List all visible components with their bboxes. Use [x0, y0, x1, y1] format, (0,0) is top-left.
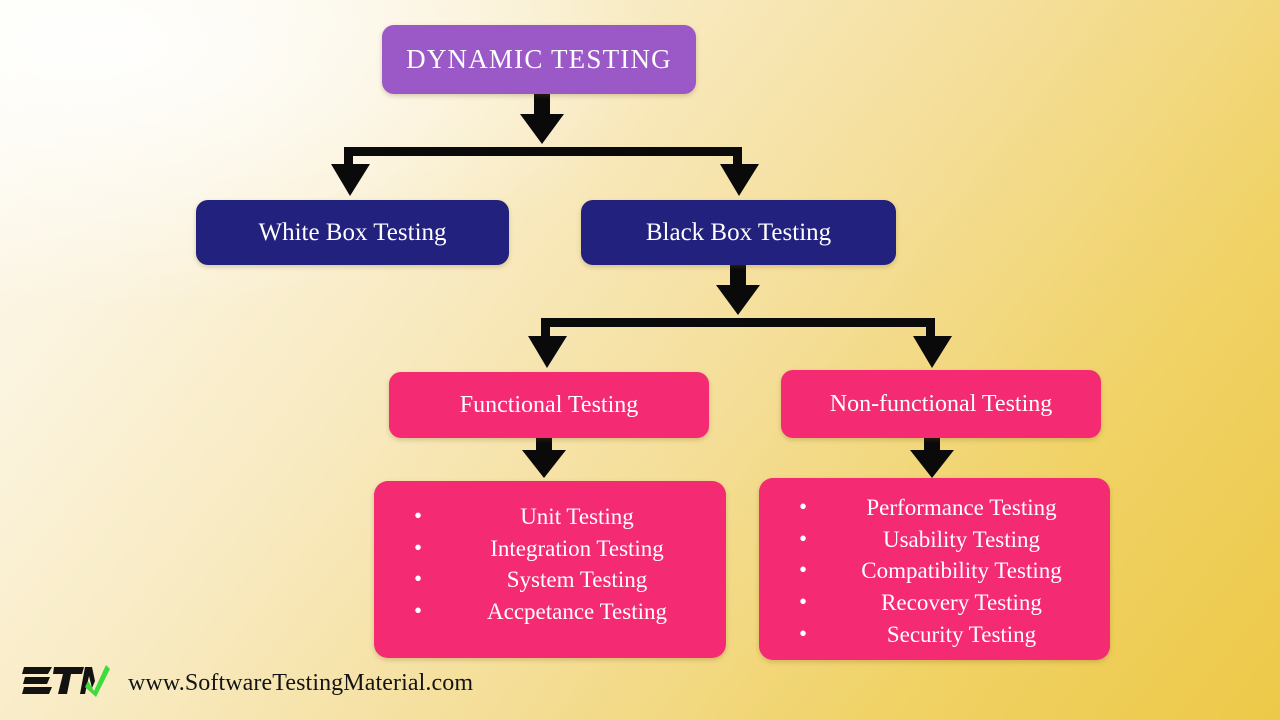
list-item: Compatibility Testing — [797, 555, 1100, 587]
arrow-stem-title — [534, 92, 550, 122]
node-dynamic-testing-label: DYNAMIC TESTING — [406, 45, 672, 75]
arrow-bus-level2 — [344, 147, 742, 156]
website-url: www.SoftwareTestingMaterial.com — [128, 670, 473, 697]
non-functional-testing-type-list: Performance Testing Usability Testing Co… — [797, 492, 1100, 651]
node-non-functional-testing-label: Non-functional Testing — [830, 391, 1053, 417]
list-item: Accpetance Testing — [412, 596, 716, 628]
node-dynamic-testing[interactable]: DYNAMIC TESTING — [382, 25, 696, 94]
node-black-box-testing[interactable]: Black Box Testing — [581, 200, 896, 265]
list-item: Recovery Testing — [797, 587, 1100, 619]
arrow-stem-nonfunctional-list — [924, 436, 940, 454]
node-functional-testing-label: Functional Testing — [460, 392, 639, 418]
arrow-head-whitebox — [331, 164, 370, 196]
functional-testing-type-list: Unit Testing Integration Testing System … — [412, 501, 716, 628]
arrow-head-functional-list — [522, 450, 566, 478]
arrow-head-title — [520, 114, 564, 144]
arrow-stem-functional — [541, 318, 550, 344]
node-non-functional-testing[interactable]: Non-functional Testing — [781, 370, 1101, 438]
list-item: Unit Testing — [412, 501, 716, 533]
arrow-bus-level3 — [541, 318, 935, 327]
node-white-box-testing[interactable]: White Box Testing — [196, 200, 509, 265]
arrow-head-blackbox — [720, 164, 759, 196]
arrow-stem-blackbox-down — [730, 265, 746, 293]
arrow-stem-whitebox — [344, 147, 353, 173]
arrow-head-blackbox-down — [716, 285, 760, 315]
node-non-functional-testing-types[interactable]: Performance Testing Usability Testing Co… — [759, 478, 1110, 660]
list-item: System Testing — [412, 564, 716, 596]
arrow-stem-blackbox — [733, 147, 742, 173]
node-white-box-testing-label: White Box Testing — [258, 219, 446, 247]
arrow-head-nonfunctional — [913, 336, 952, 368]
arrow-head-nonfunctional-list — [910, 450, 954, 478]
footer: www.SoftwareTestingMaterial.com — [22, 661, 473, 706]
diagram-canvas: DYNAMIC TESTING White Box Testing Black … — [0, 0, 1280, 720]
list-item: Security Testing — [797, 619, 1100, 651]
arrow-stem-functional-list — [536, 438, 552, 454]
list-item: Integration Testing — [412, 533, 716, 565]
node-functional-testing-types[interactable]: Unit Testing Integration Testing System … — [374, 481, 726, 658]
node-functional-testing[interactable]: Functional Testing — [389, 372, 709, 438]
list-item: Performance Testing — [797, 492, 1100, 524]
list-item: Usability Testing — [797, 524, 1100, 556]
arrow-stem-nonfunctional — [926, 318, 935, 344]
stm-logo-icon — [22, 661, 110, 706]
arrow-head-functional — [528, 336, 567, 368]
node-black-box-testing-label: Black Box Testing — [646, 219, 831, 247]
